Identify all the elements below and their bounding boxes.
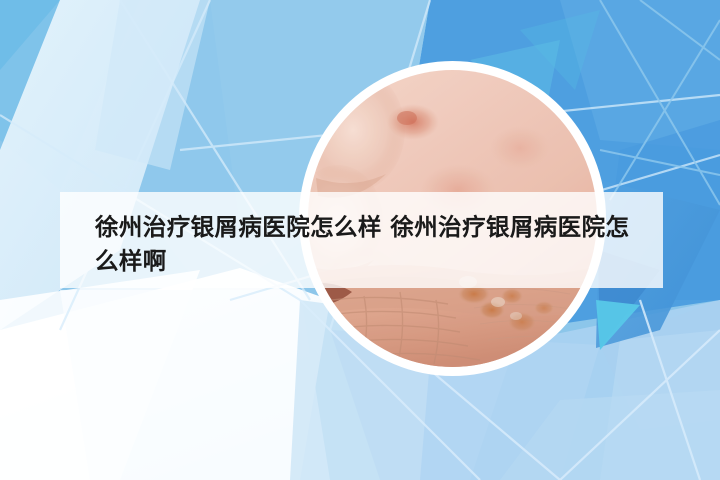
banner-canvas: 徐州治疗银屑病医院怎么样 徐州治疗银屑病医院怎么样啊 xyxy=(0,0,720,480)
caption-panel: 徐州治疗银屑病医院怎么样 徐州治疗银屑病医院怎么样啊 xyxy=(60,192,663,288)
caption-text: 徐州治疗银屑病医院怎么样 徐州治疗银屑病医院怎么样啊 xyxy=(95,210,640,278)
